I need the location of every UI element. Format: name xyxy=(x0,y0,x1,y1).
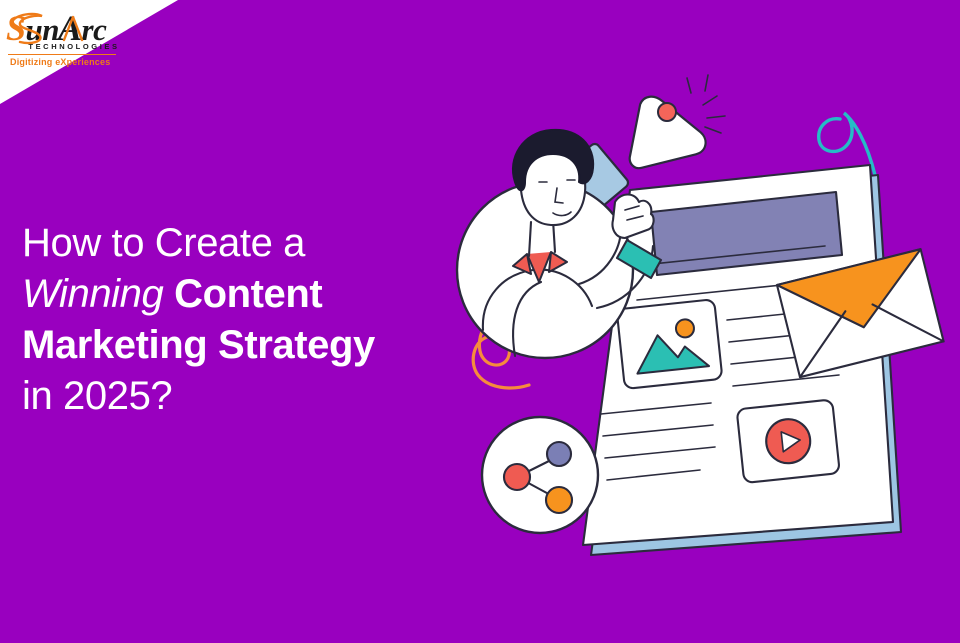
headline-line-1: How to Create a xyxy=(22,218,462,269)
logo-sun-rest: un xyxy=(26,12,59,47)
image-placeholder xyxy=(617,299,723,389)
headline-text-2b: Content xyxy=(174,272,322,316)
logo-wordmark: SunArc xyxy=(6,8,126,48)
logo-sun-capital: S xyxy=(6,8,26,48)
logo-sun-text: Sun xyxy=(6,12,59,47)
megaphone-burst-lines xyxy=(687,75,725,133)
logo-arc-capital: A xyxy=(58,8,82,48)
page-title: How to Create a Winning Content Marketin… xyxy=(22,218,462,422)
headline-line-3: Marketing Strategy xyxy=(22,320,462,371)
content-marketing-illustration: .ol { fill:none; stroke:#2b2b3d; stroke-… xyxy=(455,70,960,590)
logo-arc-rest: rc xyxy=(82,12,107,47)
logo-tagline: Digitizing eXperiences xyxy=(6,57,126,67)
headline-line-4: in 2025? xyxy=(22,371,462,422)
headline-text-4: in 2025? xyxy=(22,374,172,418)
headline-text-2a: Winning xyxy=(22,272,174,316)
headline-text-1: How to Create a xyxy=(22,221,305,265)
sunarc-logo[interactable]: SunArc TECHNOLOGIES Digitizing eXperienc… xyxy=(6,8,126,67)
headline-line-2: Winning Content xyxy=(22,269,462,320)
share-badge[interactable] xyxy=(482,417,598,533)
headline-text-3: Marketing Strategy xyxy=(22,323,375,367)
logo-arc-text: Arc xyxy=(58,12,106,47)
video-placeholder xyxy=(737,399,840,483)
logo-divider xyxy=(8,54,116,55)
banner-canvas: SunArc TECHNOLOGIES Digitizing eXperienc… xyxy=(0,0,960,643)
